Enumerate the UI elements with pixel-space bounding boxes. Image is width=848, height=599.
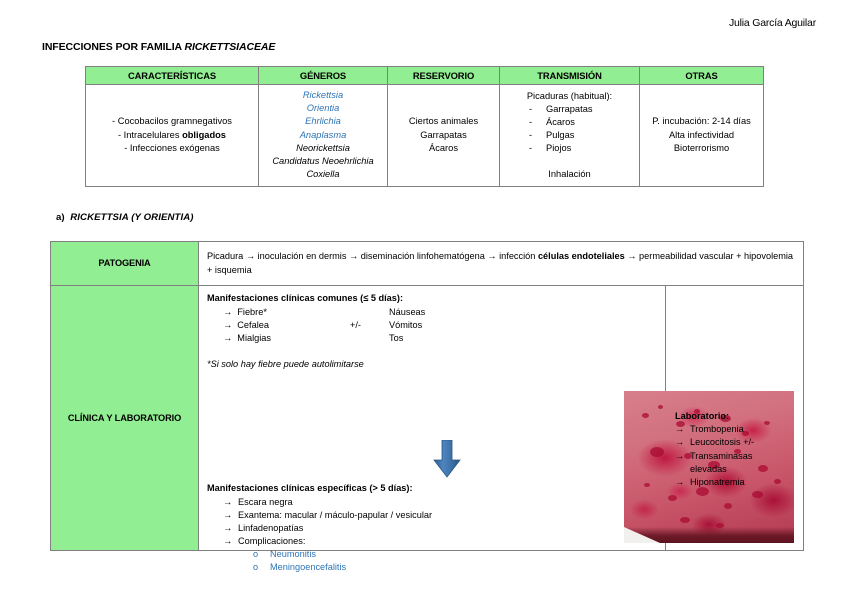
generos-list: Rickettsia Orientia Ehrlichia Anaplasma …: [262, 89, 384, 181]
symptom-left: → Mialgias: [223, 332, 271, 345]
down-arrow-icon: [432, 440, 462, 478]
list-item: oNeumonitis: [253, 548, 432, 561]
list-item: - Infecciones exógenas: [89, 142, 255, 155]
list-item: →Exantema: macular / máculo-papular / ve…: [223, 509, 432, 522]
patogenia-paragraph: Picadura → inoculación en dermis → disem…: [207, 251, 793, 275]
common-manifestations-title: Manifestaciones clínicas comunes (≤ 5 dí…: [207, 292, 657, 305]
symptom-left: → Fiebre*: [223, 306, 267, 319]
symptom-left-label: Mialgias: [237, 333, 271, 343]
list-item: → Mialgias Tos: [223, 332, 657, 345]
list-item-label: Transaminasas: [690, 451, 752, 461]
list-item: Neorickettsia: [262, 142, 384, 155]
transmision-list: -Garrapatas -Ácaros -Pulgas -Piojos: [503, 103, 636, 156]
dash-bullet: -: [529, 116, 546, 129]
list-item-label: Leucocitosis +/-: [690, 437, 754, 447]
cell-caracteristicas: - Cocobacilos gramnegativos - Intracelul…: [86, 85, 259, 187]
list-item-label: Exantema: macular / máculo-papular / ves…: [238, 510, 432, 520]
laboratorio-title: Laboratorio:: [675, 410, 754, 423]
rash-speck: [644, 483, 650, 487]
symptom-left-label: Cefalea: [237, 320, 269, 330]
table-row: - Cocobacilos gramnegativos - Intracelul…: [86, 85, 764, 187]
doc-title-italic: RICKETTSIACEAE: [184, 41, 275, 53]
complications-list: oNeumonitis oMeningoencefalitis: [207, 548, 432, 574]
cell-clinica-content: Manifestaciones clínicas comunes (≤ 5 dí…: [199, 286, 666, 551]
list-item: →Escara negra: [223, 496, 432, 509]
list-item: Rickettsia: [262, 89, 384, 102]
cell-laboratorio: Laboratorio: →Trombopenia →Leucocitosis …: [666, 286, 804, 551]
list-item: Ehrlichia: [262, 115, 384, 128]
list-item-label: Meningoencefalitis: [270, 562, 346, 572]
section-heading-a: a) RICKETTSIA (Y ORIENTIA): [56, 212, 194, 223]
list-item: Anaplasma: [262, 129, 384, 142]
section-marker: a): [56, 212, 65, 223]
list-item-label: Complicaciones:: [238, 536, 305, 546]
table-row-clinica: CLÍNICA Y LABORATORIO Manifestaciones cl…: [51, 286, 804, 551]
row-label-patogenia: PATOGENIA: [51, 242, 199, 286]
author-name: Julia García Aguilar: [729, 17, 816, 29]
specific-manifestations-list: →Escara negra →Exantema: macular / mácul…: [207, 496, 432, 548]
list-item: Orientia: [262, 102, 384, 115]
arrow-glyph: →: [223, 522, 238, 535]
table-header-row: CARACTERÍSTICAS GÉNEROS RESERVORIO TRANS…: [86, 67, 764, 85]
list-item: Coxiella: [262, 168, 384, 181]
specific-manifestations-title: Manifestaciones clínicas específicas (> …: [207, 482, 432, 495]
doc-title-plain: INFECCIONES POR FAMILIA: [42, 41, 184, 53]
list-item-label: Hiponatremia: [690, 477, 745, 487]
list-item: Alta infectividad: [643, 129, 760, 142]
page-title: INFECCIONES POR FAMILIA RICKETTSIACEAE: [42, 41, 275, 53]
arrow-glyph: →: [675, 436, 690, 449]
list-item-label: Piojos: [546, 143, 571, 153]
list-item: P. incubación: 2-14 días: [643, 115, 760, 128]
transmision-inhalacion: Inhalación: [503, 168, 636, 181]
cell-reservorio: Ciertos animales Garrapatas Ácaros: [388, 85, 500, 187]
patogenia-text-bold: células endoteliales: [538, 251, 625, 261]
section-title: RICKETTSIA (Y ORIENTIA): [70, 212, 193, 223]
familia-rickettsiaceae-table: CARACTERÍSTICAS GÉNEROS RESERVORIO TRANS…: [85, 66, 764, 187]
symptom-left-label: Fiebre*: [237, 307, 267, 317]
list-item: -Piojos: [529, 142, 636, 155]
symptom-modifier: +/-: [350, 319, 361, 332]
list-item: → Cefalea +/- Vómitos: [223, 319, 657, 332]
dash-bullet: -: [529, 103, 546, 116]
cell-patogenia-text: Picadura → inoculación en dermis → disem…: [199, 242, 804, 286]
symptom-right-label: Vómitos: [389, 319, 422, 332]
list-item: -Pulgas: [529, 129, 636, 142]
dash-bullet: -: [529, 142, 546, 155]
list-item: →Linfadenopatías: [223, 522, 432, 535]
arrow-glyph: →: [223, 535, 238, 548]
list-item-text: - Intracelulares: [118, 130, 182, 140]
arrow-glyph: →: [675, 423, 690, 436]
common-manifestations-grid: → Fiebre* Náuseas → Cefalea +/- Vómitos …: [207, 306, 657, 345]
list-item-label: Garrapatas: [546, 104, 593, 114]
arrow-glyph: →: [223, 307, 232, 317]
circle-bullet: o: [253, 548, 270, 561]
list-item-label: Ácaros: [546, 117, 575, 127]
arrow-glyph: →: [675, 476, 690, 489]
laboratorio-block: Laboratorio: →Trombopenia →Leucocitosis …: [675, 410, 754, 489]
list-item: Garrapatas: [391, 129, 496, 142]
list-item: - Cocobacilos gramnegativos: [89, 115, 255, 128]
column-header-reservorio: RESERVORIO: [388, 67, 500, 85]
rash-speck: [642, 413, 649, 418]
arrow-glyph: →: [223, 333, 232, 343]
arrow-glyph: →: [223, 320, 232, 330]
symptom-left: → Cefalea: [223, 319, 269, 332]
symptom-right-label: Náuseas: [389, 306, 425, 319]
list-item: → Fiebre* Náuseas: [223, 306, 657, 319]
fever-footnote: *Si solo hay fiebre puede autolimitarse: [207, 358, 657, 371]
cell-transmision: Picaduras (habitual): -Garrapatas -Ácaro…: [500, 85, 640, 187]
list-item: Ciertos animales: [391, 115, 496, 128]
row-label-clinica: CLÍNICA Y LABORATORIO: [51, 286, 199, 551]
cell-otras: P. incubación: 2-14 días Alta infectivid…: [640, 85, 764, 187]
list-item-label: Pulgas: [546, 130, 574, 140]
otras-list: P. incubación: 2-14 días Alta infectivid…: [643, 115, 760, 155]
list-item: →Transaminasas: [675, 450, 754, 463]
column-header-generos: GÉNEROS: [259, 67, 388, 85]
transmision-heading: Picaduras (habitual):: [503, 90, 636, 103]
dash-bullet: -: [529, 129, 546, 142]
list-item-label: Escara negra: [238, 497, 293, 507]
list-item: oMeningoencefalitis: [253, 561, 432, 574]
document-page: Julia García Aguilar INFECCIONES POR FAM…: [0, 0, 848, 599]
arrow-glyph: →: [223, 509, 238, 522]
list-item: -Ácaros: [529, 116, 636, 129]
list-item: →Hiponatremia: [675, 476, 754, 489]
circle-bullet: o: [253, 561, 270, 574]
arrow-glyph: →: [223, 496, 238, 509]
cell-generos: Rickettsia Orientia Ehrlichia Anaplasma …: [259, 85, 388, 187]
list-item: Bioterrorismo: [643, 142, 760, 155]
reservorio-list: Ciertos animales Garrapatas Ácaros: [391, 115, 496, 155]
list-item-emphasis: obligados: [182, 130, 226, 140]
specific-manifestations-block: Manifestaciones clínicas específicas (> …: [207, 482, 432, 574]
list-item-continuation: elevadas: [675, 463, 754, 476]
list-item: →Leucocitosis +/-: [675, 436, 754, 449]
table-row-patogenia: PATOGENIA Picadura → inoculación en derm…: [51, 242, 804, 286]
rash-speck: [650, 447, 664, 457]
column-header-transmision: TRANSMISIÓN: [500, 67, 640, 85]
list-item: -Garrapatas: [529, 103, 636, 116]
column-header-caracteristicas: CARACTERÍSTICAS: [86, 67, 259, 85]
rickettsia-detail-table: PATOGENIA Picadura → inoculación en derm…: [50, 241, 804, 551]
list-item: →Complicaciones:: [223, 535, 432, 548]
caracteristicas-list: - Cocobacilos gramnegativos - Intracelul…: [89, 115, 255, 155]
list-item-label: Trombopenia: [690, 424, 744, 434]
list-item-label: Linfadenopatías: [238, 523, 303, 533]
list-item: →Trombopenia: [675, 423, 754, 436]
arrow-glyph: →: [675, 450, 690, 463]
patogenia-text-pre: Picadura → inoculación en dermis → disem…: [207, 251, 538, 261]
rash-speck: [658, 405, 663, 409]
list-item: Candidatus Neoehrlichia: [262, 155, 384, 168]
list-item: - Intracelulares obligados: [89, 129, 255, 142]
list-item: Ácaros: [391, 142, 496, 155]
column-header-otras: OTRAS: [640, 67, 764, 85]
list-item-label: Neumonitis: [270, 549, 316, 559]
symptom-right-label: Tos: [389, 332, 403, 345]
